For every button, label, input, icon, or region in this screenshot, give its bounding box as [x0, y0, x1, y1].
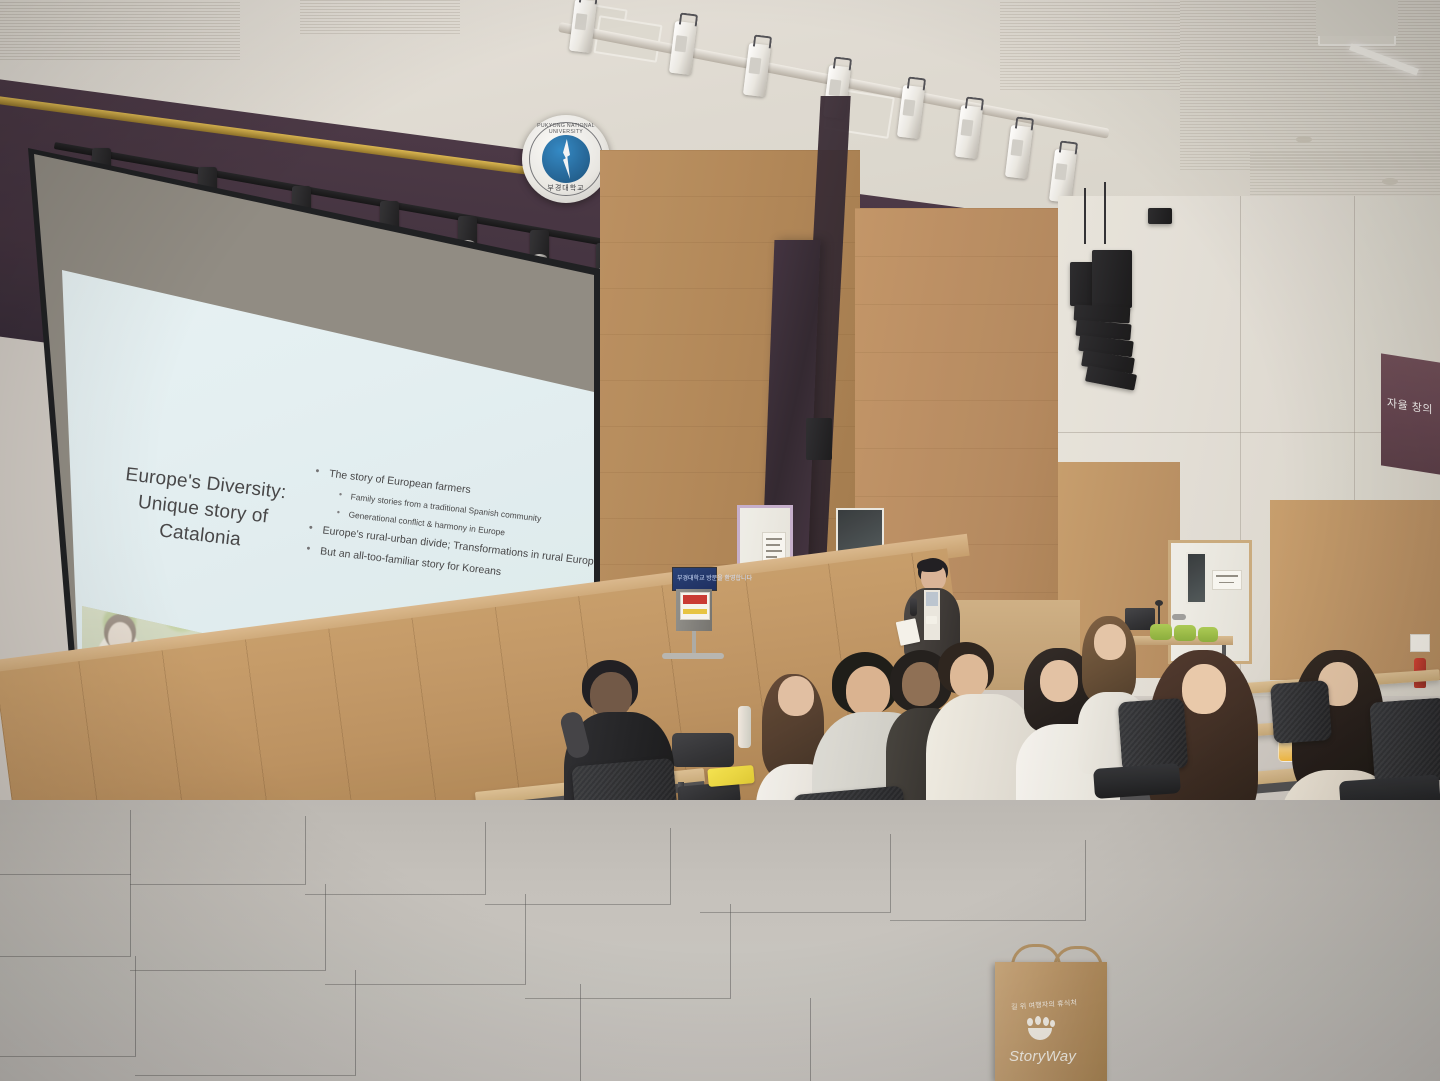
green-chair[interactable]: [1174, 625, 1196, 641]
info-monitor: 부경대학교 방문을 환영합니다: [672, 567, 717, 591]
lecture-hall-photo: PUKYONG NATIONAL UNIVERSITY 부경대학교 국립 부경대…: [0, 0, 1440, 1081]
bag-brand-name: StoryWay: [1009, 1048, 1076, 1065]
side-door[interactable]: [1168, 540, 1252, 664]
cart-notice-sign: [680, 592, 710, 620]
wall-banner: 자율 창의: [1381, 353, 1440, 474]
name-badge: [926, 616, 937, 624]
side-door-sign: [1212, 570, 1242, 590]
handheld-microphone: [910, 598, 917, 616]
fire-extinguisher-sign: [1410, 634, 1430, 652]
door-handle-icon[interactable]: [1172, 614, 1186, 620]
floor: [0, 800, 1440, 1081]
wall-banner-text: 자율 창의: [1387, 394, 1433, 417]
green-chair[interactable]: [1198, 627, 1218, 642]
wall-speaker: [806, 418, 832, 460]
line-array-speaker: [1070, 240, 1142, 390]
slide-title: Europe's Diversity: Unique story of Cata…: [99, 460, 306, 560]
side-door-window: [1186, 552, 1207, 604]
cart-base: [662, 653, 724, 659]
water-bottle: [738, 706, 751, 748]
slide-bullet-list: The story of European farmers Family sto…: [303, 466, 597, 599]
storyway-logo-icon: [1025, 1018, 1055, 1038]
info-monitor-text: 부경대학교 방문을 환영합니다: [677, 573, 752, 582]
green-chair[interactable]: [1150, 624, 1172, 640]
bag-tagline: 길 위 여행자의 휴식처: [1011, 998, 1078, 1013]
shopping-bag: 길 위 여행자의 휴식처 StoryWay: [995, 944, 1115, 1081]
backpack: [672, 733, 734, 767]
ceiling-speaker: [1148, 208, 1172, 224]
